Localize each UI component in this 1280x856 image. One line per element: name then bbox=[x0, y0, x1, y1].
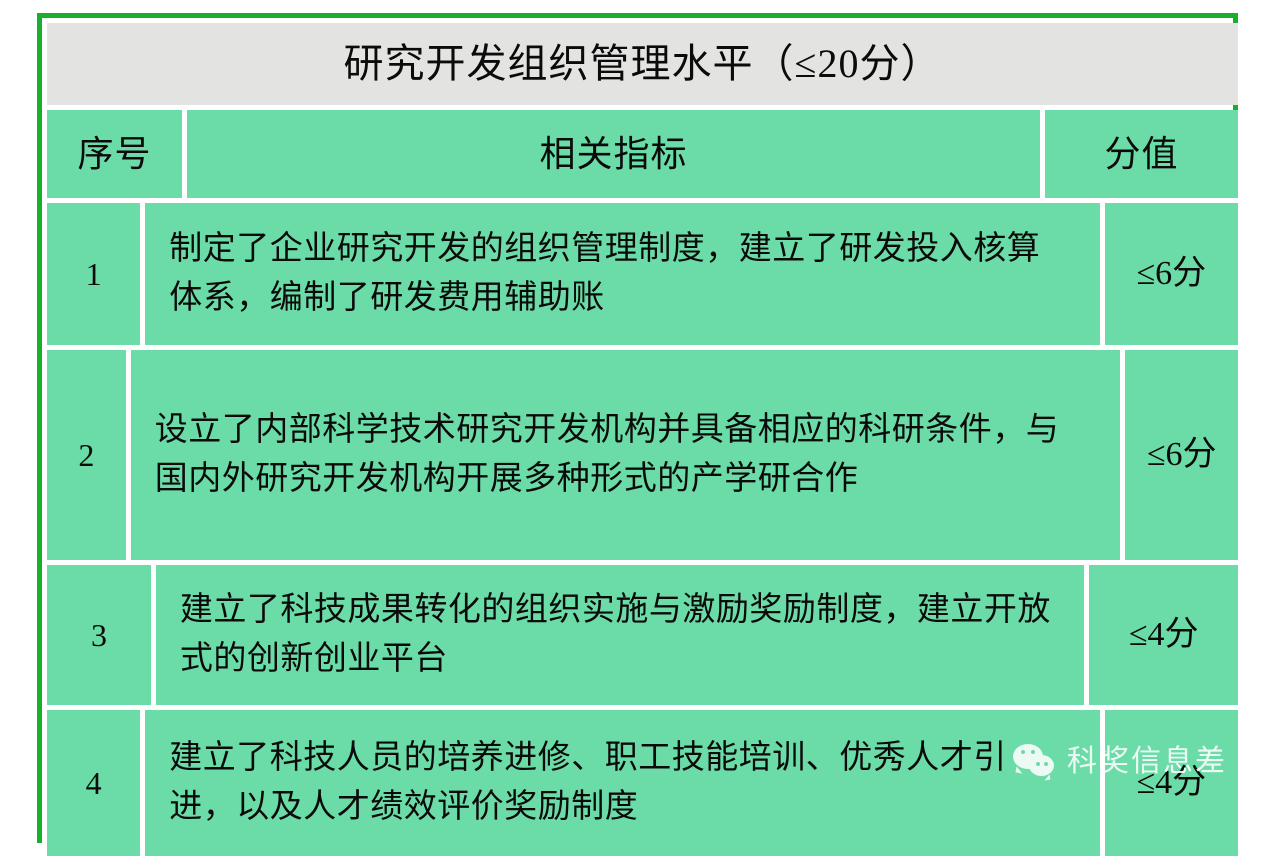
row-score-label: ≤6分 bbox=[1147, 438, 1217, 472]
row-index-cell: 3 bbox=[47, 565, 151, 705]
column-header-index-label: 序号 bbox=[77, 136, 151, 172]
row-indicator-cell: 建立了科技人员的培养进修、职工技能培训、优秀人才引进，以及人才绩效评价奖励制度 bbox=[145, 710, 1099, 856]
row-index-cell: 1 bbox=[47, 203, 140, 345]
row-indicator-text: 建立了科技成果转化的组织实施与激励奖励制度，建立开放式的创新创业平台 bbox=[180, 586, 1057, 685]
row-index-label: 3 bbox=[91, 619, 107, 651]
row-indicator-text: 建立了科技人员的培养进修、职工技能培训、优秀人才引进，以及人才绩效评价奖励制度 bbox=[169, 734, 1071, 833]
row-score-cell: ≤6分 bbox=[1105, 203, 1238, 345]
table-row: 3 建立了科技成果转化的组织实施与激励奖励制度，建立开放式的创新创业平台 ≤4分 bbox=[47, 565, 1238, 705]
table-row: 4 建立了科技人员的培养进修、职工技能培训、优秀人才引进，以及人才绩效评价奖励制… bbox=[47, 710, 1238, 856]
column-header-score-label: 分值 bbox=[1104, 136, 1178, 172]
row-index-cell: 2 bbox=[47, 350, 126, 560]
row-score-label: ≤4分 bbox=[1129, 618, 1199, 652]
table-row: 2 设立了内部科学技术研究开发机构并具备相应的科研条件，与国内外研究开发机构开展… bbox=[47, 350, 1238, 560]
column-header-indicator: 相关指标 bbox=[187, 110, 1040, 198]
row-score-cell: ≤6分 bbox=[1125, 350, 1238, 560]
column-header-score: 分值 bbox=[1045, 110, 1238, 198]
row-indicator-cell: 制定了企业研究开发的组织管理制度，建立了研发投入核算体系，编制了研发费用辅助账 bbox=[145, 203, 1099, 345]
table-grid: 序号 相关指标 分值 1 制定了企业研究开发的组织管理制度，建立了研发投入核算体… bbox=[47, 110, 1238, 856]
page-title: 研究开发组织管理水平（≤20分） bbox=[344, 44, 942, 84]
row-index-label: 2 bbox=[78, 439, 94, 471]
row-index-cell: 4 bbox=[47, 710, 140, 856]
column-header-index: 序号 bbox=[47, 110, 182, 198]
row-score-label: ≤6分 bbox=[1137, 257, 1207, 291]
scoring-criteria-table: 研究开发组织管理水平（≤20分） 序号 相关指标 分值 1 制定了企业研究开发的… bbox=[37, 13, 1238, 843]
row-index-label: 1 bbox=[86, 258, 102, 290]
row-score-label: ≤4分 bbox=[1137, 766, 1207, 800]
row-indicator-text: 制定了企业研究开发的组织管理制度，建立了研发投入核算体系，编制了研发费用辅助账 bbox=[169, 225, 1071, 324]
row-indicator-text: 设立了内部科学技术研究开发机构并具备相应的科研条件，与国内外研究开发机构开展多种… bbox=[155, 406, 1093, 505]
column-header-indicator-label: 相关指标 bbox=[539, 136, 687, 172]
row-indicator-cell: 设立了内部科学技术研究开发机构并具备相应的科研条件，与国内外研究开发机构开展多种… bbox=[131, 350, 1121, 560]
row-indicator-cell: 建立了科技成果转化的组织实施与激励奖励制度，建立开放式的创新创业平台 bbox=[156, 565, 1085, 705]
row-index-label: 4 bbox=[86, 767, 102, 799]
table-header-row: 序号 相关指标 分值 bbox=[47, 110, 1238, 198]
table-row: 1 制定了企业研究开发的组织管理制度，建立了研发投入核算体系，编制了研发费用辅助… bbox=[47, 203, 1238, 345]
table-title-row: 研究开发组织管理水平（≤20分） bbox=[47, 23, 1238, 105]
row-score-cell: ≤4分 bbox=[1089, 565, 1238, 705]
row-score-cell: ≤4分 bbox=[1105, 710, 1238, 856]
